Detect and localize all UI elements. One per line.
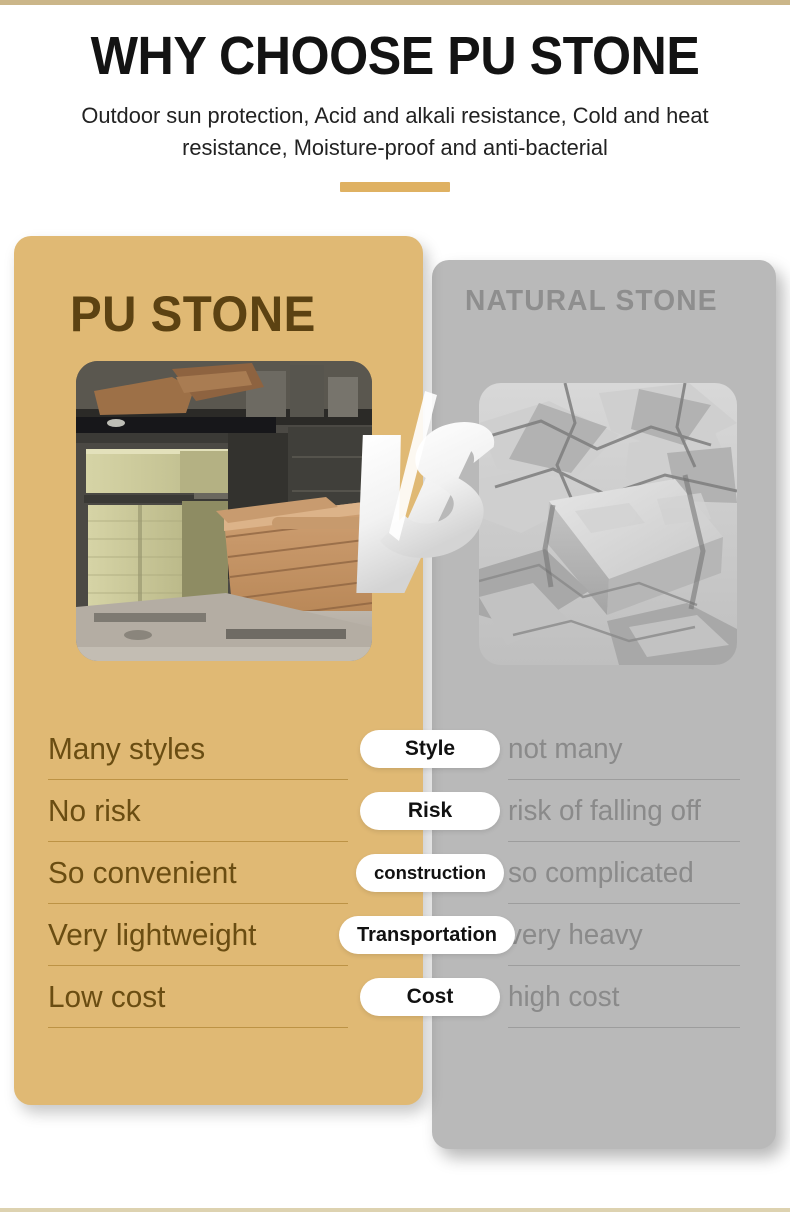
natural-stone-photo: [479, 383, 737, 665]
page-title: WHY CHOOSE PU STONE: [28, 28, 763, 84]
comparison-stage: NATURAL STONE: [0, 236, 790, 1141]
title-divider-rule: [340, 182, 450, 192]
pu-value: So convenient: [48, 842, 365, 904]
pu-stone-photo: [76, 361, 372, 661]
natural-value: high cost: [508, 966, 767, 1028]
comparison-row: No risk Risk risk of falling off: [0, 780, 790, 842]
row-rule-right: [508, 1027, 740, 1028]
criterion-pill-transportation[interactable]: Transportation: [339, 916, 515, 954]
natural-stone-heading: NATURAL STONE: [465, 285, 718, 318]
top-accent-strip: [0, 0, 790, 5]
criterion-pill-construction[interactable]: construction: [356, 854, 504, 892]
comparison-rows: Many styles Style not many No risk Risk …: [0, 718, 790, 1028]
bottom-accent-strip: [0, 1208, 790, 1212]
pu-stone-heading: PU STONE: [70, 285, 316, 343]
comparison-row: Very lightweight Transportation very hea…: [0, 904, 790, 966]
natural-value: very heavy: [508, 904, 767, 966]
comparison-row: Low cost Cost high cost: [0, 966, 790, 1028]
comparison-row: Many styles Style not many: [0, 718, 790, 780]
pu-value: Many styles: [48, 718, 365, 780]
page-subtitle: Outdoor sun protection, Acid and alkali …: [12, 100, 778, 164]
pu-value: No risk: [48, 780, 365, 842]
natural-value: so complicated: [508, 842, 767, 904]
row-rule-left: [48, 1027, 348, 1028]
header: WHY CHOOSE PU STONE Outdoor sun protecti…: [0, 28, 790, 192]
criterion-pill-style[interactable]: Style: [360, 730, 500, 768]
criterion-pill-risk[interactable]: Risk: [360, 792, 500, 830]
pu-value: Very lightweight: [48, 904, 365, 966]
natural-value: not many: [508, 718, 767, 780]
pu-value: Low cost: [48, 966, 365, 1028]
natural-value: risk of falling off: [508, 780, 767, 842]
criterion-pill-cost[interactable]: Cost: [360, 978, 500, 1016]
comparison-row: So convenient construction so complicate…: [0, 842, 790, 904]
